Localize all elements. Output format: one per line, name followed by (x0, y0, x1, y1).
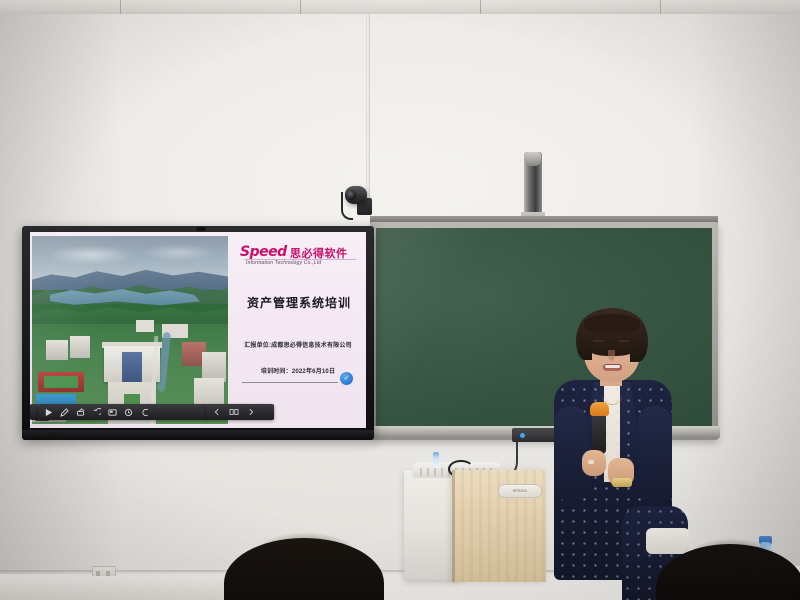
presenter-eye-right (619, 345, 629, 349)
presenter-eyebrow-left (593, 340, 605, 342)
prev-icon[interactable] (211, 407, 222, 418)
slide-organization: 汇报单位:成都思必得信息技术有限公司 (230, 340, 366, 349)
company-logo: Speed 思必得软件 Information Technology Co.,L… (240, 244, 360, 270)
display-screen[interactable]: Speed 思必得软件 Information Technology Co.,L… (30, 232, 366, 428)
presenter-eyebrow-right (618, 340, 630, 342)
ring-icon (588, 460, 594, 464)
classroom-photo: SPEED (0, 0, 800, 600)
next-icon[interactable] (245, 407, 256, 418)
undo-icon[interactable] (91, 407, 102, 418)
thumbnail-icon[interactable] (228, 407, 239, 418)
presenter-arm-right (638, 406, 672, 506)
eraser-icon[interactable] (75, 407, 86, 418)
microphone-head-icon (590, 402, 609, 416)
cable-conduit (366, 14, 370, 200)
presenter-hand-left (582, 450, 606, 476)
camera-lens-icon (347, 190, 356, 200)
photo-glare (32, 236, 228, 424)
slide-title: 资产管理系统培训 (236, 294, 362, 311)
gold-watch-icon (612, 478, 632, 487)
display-bottom-bar (22, 430, 374, 440)
presenter-nose (608, 350, 615, 361)
display-webcam-icon (196, 227, 206, 231)
presentation-slide[interactable]: Speed 思必得软件 Information Technology Co.,L… (30, 232, 366, 428)
slide-divider (242, 382, 338, 383)
pen-icon[interactable] (59, 407, 70, 418)
pointer-icon[interactable] (139, 407, 150, 418)
device-led-icon (520, 433, 525, 438)
slide-icon[interactable] (107, 407, 118, 418)
toolbar-drag-handle[interactable] (30, 404, 38, 420)
presentation-toolbar[interactable] (38, 404, 208, 420)
podium-name-plate: SPEED (498, 484, 542, 498)
presenter-hair-fringe (584, 314, 640, 332)
logo-wordmark: Speed (240, 244, 287, 260)
presenter-eye-left (594, 345, 604, 349)
logo-tagline: Information Technology Co.,Ltd (246, 260, 321, 266)
microphone-icon (592, 412, 606, 454)
projector-head (525, 152, 541, 166)
podium-edge (452, 470, 455, 582)
water-bottle-icon (433, 452, 439, 468)
play-icon[interactable] (43, 407, 54, 418)
presenter-teeth (605, 365, 620, 368)
campus-aerial-photo (32, 236, 228, 424)
desk-left (0, 576, 230, 600)
clock-icon[interactable] (123, 407, 134, 418)
slide-badge[interactable]: ✓ (340, 372, 353, 385)
presentation-nav-toolbar[interactable] (206, 404, 274, 420)
